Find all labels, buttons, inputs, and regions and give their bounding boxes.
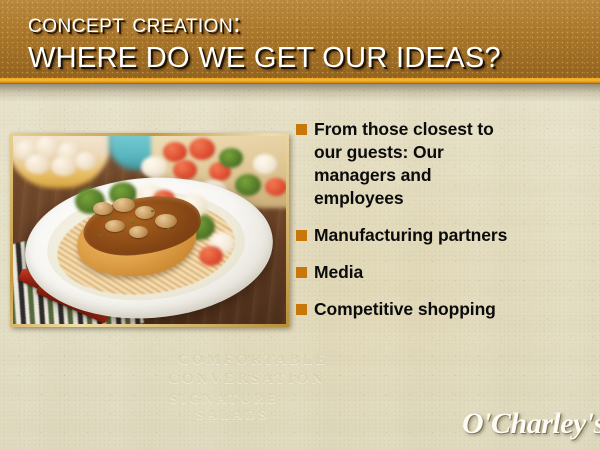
- photo-sauce-mushroom: [155, 214, 177, 228]
- slide-title-line-1: Concept creation:: [28, 6, 588, 41]
- list-item-label: Media: [314, 261, 592, 284]
- photo-mushroom: [25, 154, 51, 174]
- photo-tomato: [189, 138, 215, 160]
- photo-herb-fleck: [167, 228, 170, 230]
- photo-sauce-mushroom: [129, 226, 148, 238]
- photo-cauliflower: [141, 156, 167, 178]
- photo-herb-fleck: [99, 234, 102, 236]
- food-photo-frame: [10, 133, 289, 327]
- bullet-list: From those closest to our guests: Our ma…: [296, 118, 592, 335]
- bullet-square-icon: [296, 304, 307, 315]
- slide-title-line-2: Where do we get our ideas?: [28, 41, 588, 76]
- photo-herb-fleck: [151, 210, 154, 212]
- photo-sauce-mushroom: [135, 206, 155, 219]
- photo-herb-fleck: [131, 222, 134, 224]
- photo-tomato: [265, 178, 286, 196]
- photo-sauce-mushroom: [105, 220, 125, 232]
- list-item: Competitive shopping: [296, 298, 592, 321]
- ocharleys-logo: O'Charley's: [462, 404, 592, 444]
- photo-broccoli: [219, 148, 243, 168]
- header-drop-shadow: [0, 84, 600, 102]
- photo-mushroom: [51, 156, 77, 176]
- photo-herb-fleck: [109, 216, 112, 218]
- photo-tomato: [173, 160, 197, 180]
- photo-mushroom: [75, 152, 97, 170]
- photo-sauce-mushroom: [113, 198, 135, 212]
- list-item-label: Competitive shopping: [314, 298, 592, 321]
- slide-title: Concept creation: Where do we get our id…: [28, 6, 588, 76]
- list-item: From those closest to our guests: Our ma…: [296, 118, 592, 210]
- bullet-square-icon: [296, 124, 307, 135]
- list-item: Media: [296, 261, 592, 284]
- photo-broccoli: [235, 174, 261, 196]
- presentation-slide: COMFORTABLE CONVERSATION SIGNATURE SALAD…: [0, 0, 600, 450]
- photo-tomato: [163, 142, 187, 162]
- photo-carrot: [199, 246, 223, 266]
- bullet-square-icon: [296, 267, 307, 278]
- list-item: Manufacturing partners: [296, 224, 592, 247]
- photo-sauce-mushroom: [93, 202, 113, 215]
- food-photo: [13, 136, 286, 324]
- photo-cauliflower: [253, 154, 277, 174]
- list-item-label: From those closest to our guests: Our ma…: [314, 118, 514, 210]
- bullet-square-icon: [296, 230, 307, 241]
- list-item-label: Manufacturing partners: [314, 224, 592, 247]
